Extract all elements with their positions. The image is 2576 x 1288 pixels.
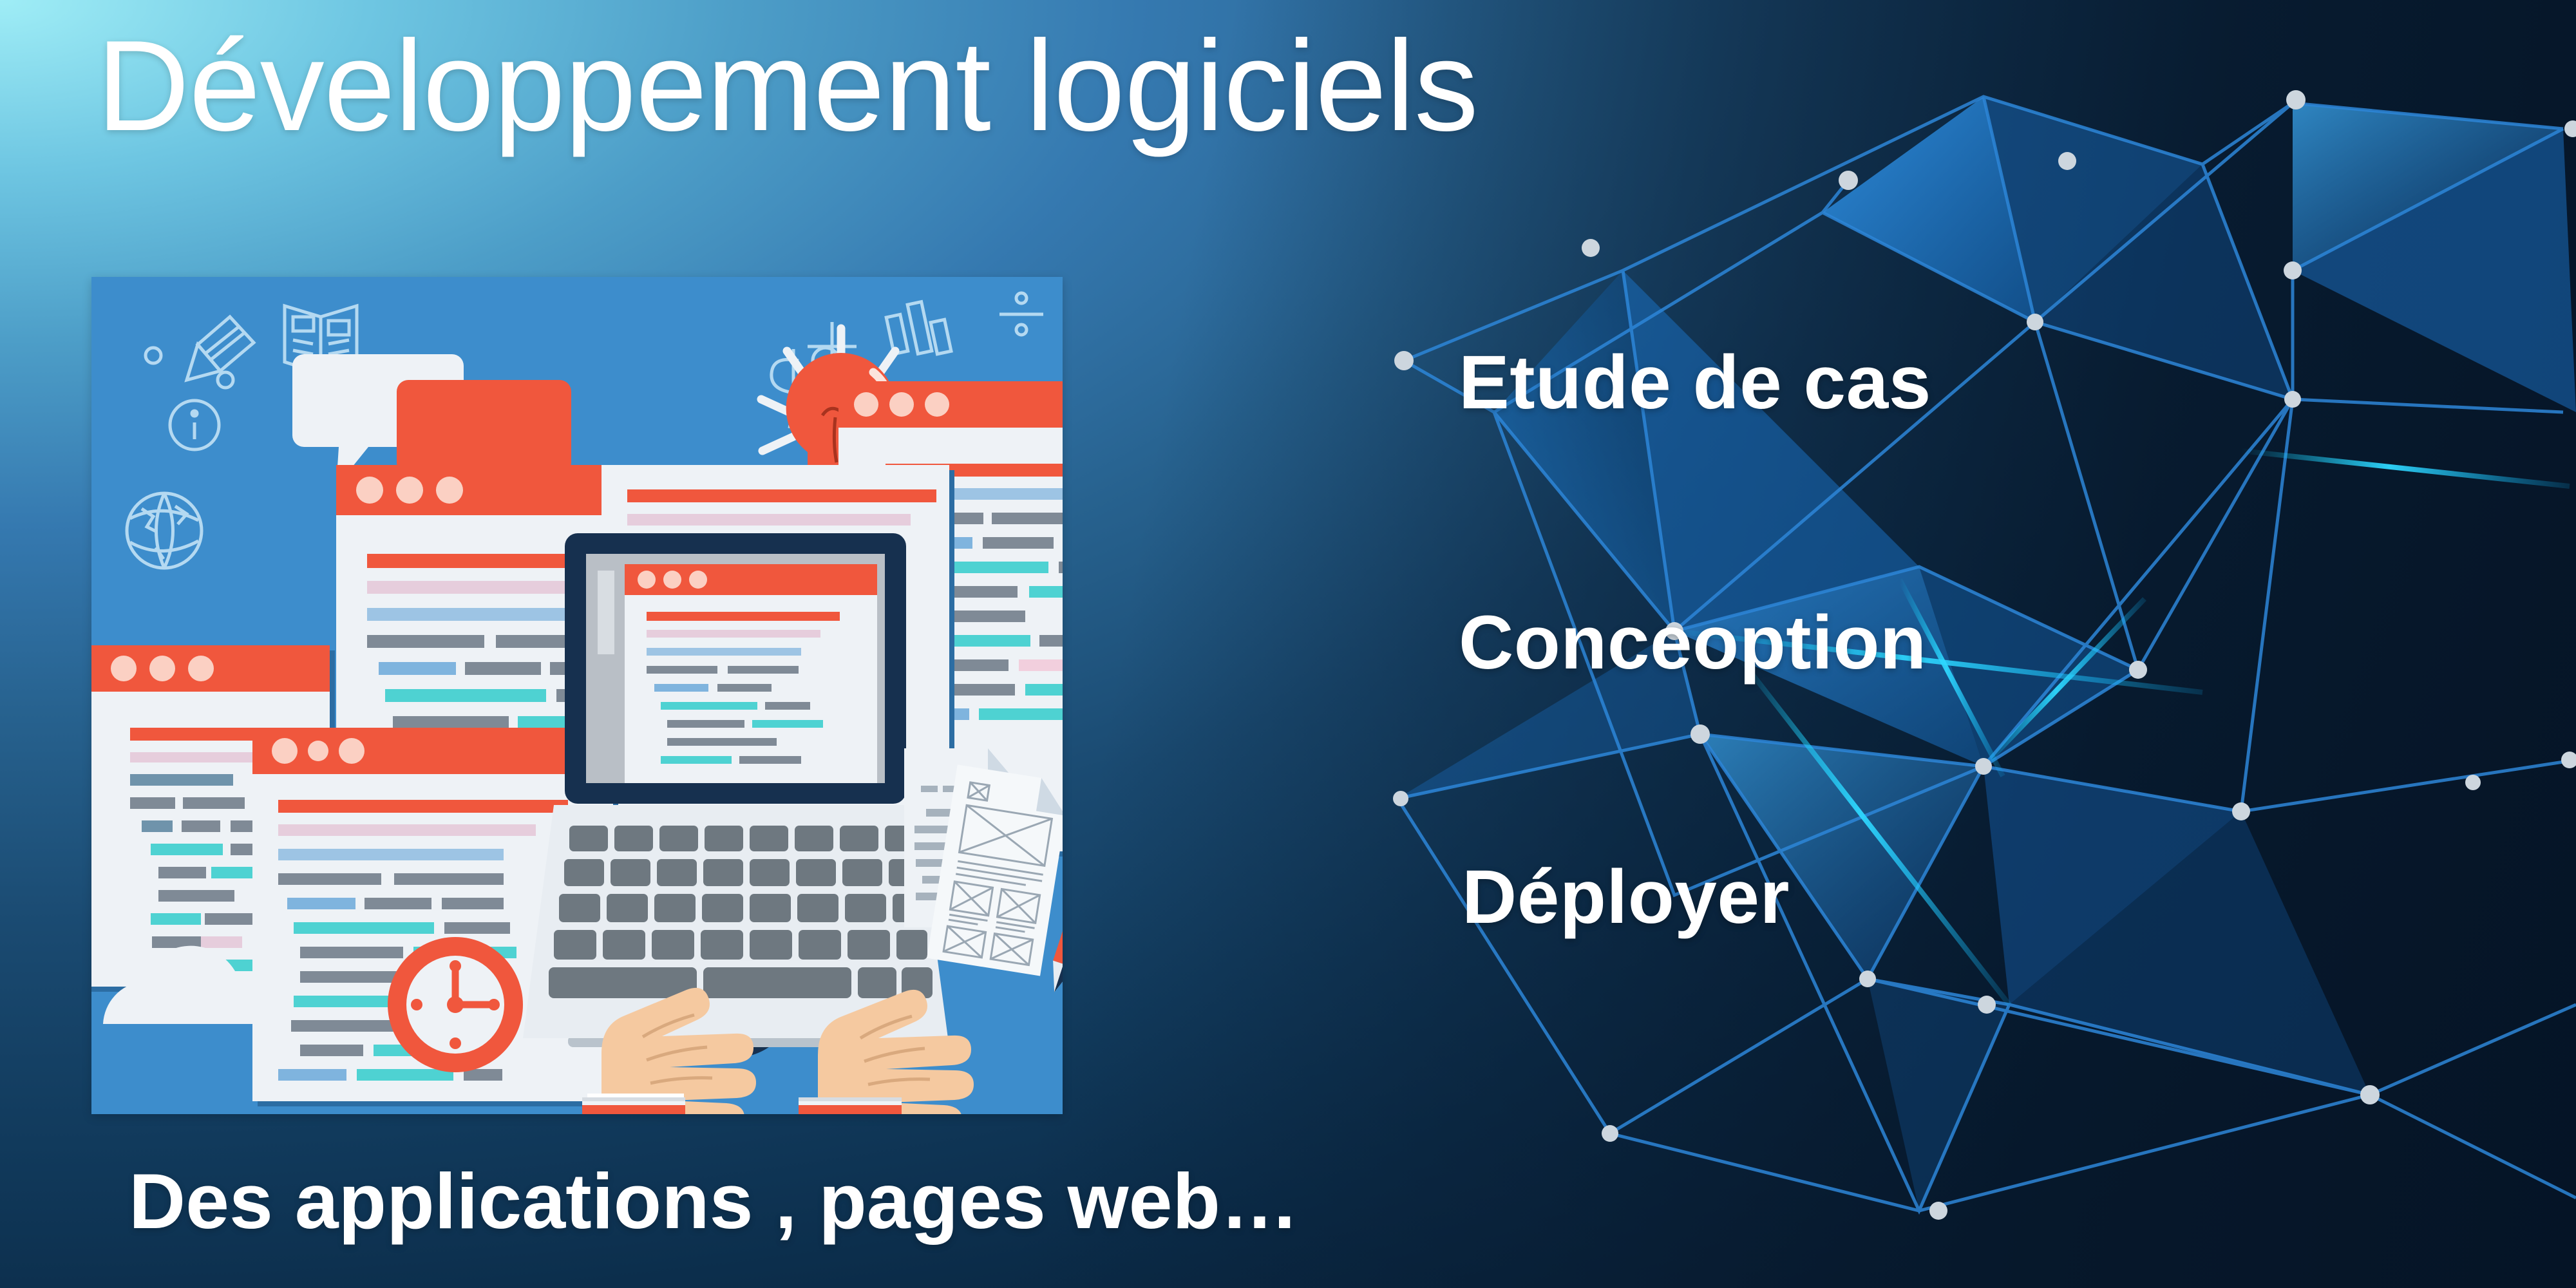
step-item-etude-de-cas[interactable]: Etude de cas (1459, 339, 1931, 426)
cuff (799, 1105, 902, 1114)
slide-canvas: Développement logiciels (0, 0, 2576, 1288)
step-item-conceoption[interactable]: Conceoption (1459, 599, 1927, 687)
caption-text: Des applications , pages web… (129, 1156, 1299, 1246)
illustration-svg (91, 277, 1063, 1114)
laptop (523, 533, 948, 1047)
clock-icon (388, 937, 523, 1072)
page-title: Développement logiciels (97, 4, 1478, 169)
cuff (582, 1105, 685, 1114)
step-item-deployer[interactable]: Déployer (1462, 853, 1790, 941)
software-development-illustration (91, 277, 1063, 1114)
